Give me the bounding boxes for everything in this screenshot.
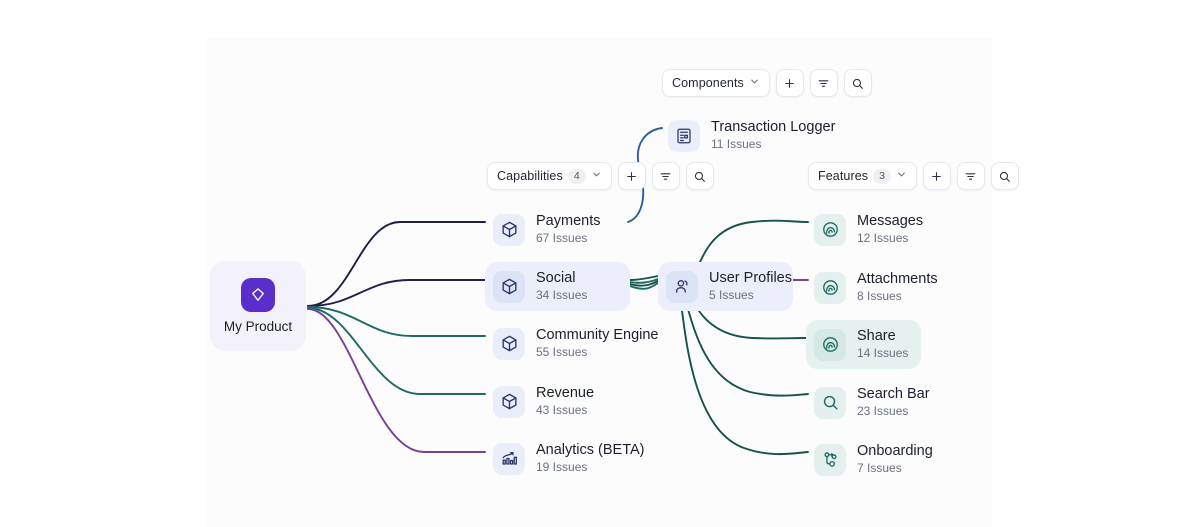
add-component-button[interactable] xyxy=(776,69,804,97)
node-issue-count: 55 Issues xyxy=(536,345,659,360)
node-issue-count: 34 Issues xyxy=(536,288,587,303)
node-title: Transaction Logger xyxy=(711,119,835,136)
node-issue-count: 19 Issues xyxy=(536,460,645,475)
chevron-down-icon xyxy=(896,167,907,185)
node-title: Payments xyxy=(536,213,600,230)
toolbar-features-selector[interactable]: Features 3 xyxy=(808,162,917,190)
cube-icon xyxy=(493,214,525,246)
node-title: Social xyxy=(536,270,587,287)
toolbar-features-count: 3 xyxy=(873,169,891,184)
spiral-icon xyxy=(814,329,846,361)
chevron-down-icon xyxy=(591,167,602,185)
cube-icon xyxy=(493,271,525,303)
node-title: Community Engine xyxy=(536,327,659,344)
node-share[interactable]: Share 14 Issues xyxy=(806,320,921,369)
gem-icon xyxy=(241,278,275,312)
node-issue-count: 14 Issues xyxy=(857,346,907,361)
node-title: Search Bar xyxy=(857,386,930,403)
node-search-bar[interactable]: Search Bar 23 Issues xyxy=(806,378,944,427)
node-attachments[interactable]: Attachments 8 Issues xyxy=(806,263,952,312)
node-user-profiles[interactable]: User Profiles 5 Issues xyxy=(658,262,793,311)
filter-components-button[interactable] xyxy=(810,69,838,97)
filter-features-button[interactable] xyxy=(957,162,985,190)
node-issue-count: 11 Issues xyxy=(711,137,835,152)
root-node-label: My Product xyxy=(224,319,292,334)
node-issue-count: 7 Issues xyxy=(857,461,933,476)
workflow-icon xyxy=(814,444,846,476)
toolbar-capabilities-label: Capabilities xyxy=(497,169,563,183)
node-title: Attachments xyxy=(857,271,938,288)
filter-capabilities-button[interactable] xyxy=(652,162,680,190)
node-issue-count: 8 Issues xyxy=(857,289,938,304)
node-issue-count: 67 Issues xyxy=(536,231,600,246)
spiral-icon xyxy=(814,272,846,304)
node-messages[interactable]: Messages 12 Issues xyxy=(806,205,937,254)
node-title: Share xyxy=(857,328,907,345)
mindmap-canvas[interactable]: My Product Components Capabilities 4 xyxy=(0,0,1200,527)
node-issue-count: 5 Issues xyxy=(709,288,779,303)
cube-icon xyxy=(493,328,525,360)
root-node-my-product[interactable]: My Product xyxy=(210,261,306,351)
toolbar-features-label: Features xyxy=(818,169,868,183)
toolbar-capabilities[interactable]: Capabilities 4 xyxy=(487,162,714,190)
toolbar-components[interactable]: Components xyxy=(662,69,872,97)
node-title: Onboarding xyxy=(857,443,933,460)
node-issue-count: 23 Issues xyxy=(857,404,930,419)
node-title: Revenue xyxy=(536,385,594,402)
node-issue-count: 12 Issues xyxy=(857,231,923,246)
node-title: Messages xyxy=(857,213,923,230)
toolbar-features[interactable]: Features 3 xyxy=(808,162,1019,190)
chevron-down-icon xyxy=(749,74,760,92)
cube-icon xyxy=(493,386,525,418)
node-social[interactable]: Social 34 Issues xyxy=(485,262,630,311)
toolbar-components-selector[interactable]: Components xyxy=(662,69,770,97)
add-capability-button[interactable] xyxy=(618,162,646,190)
search-capabilities-button[interactable] xyxy=(686,162,714,190)
node-payments[interactable]: Payments 67 Issues xyxy=(485,205,614,254)
users-icon xyxy=(666,271,698,303)
node-transaction-logger[interactable]: Transaction Logger 11 Issues xyxy=(660,111,849,160)
node-title: User Profiles xyxy=(709,270,779,287)
report-document-icon xyxy=(668,120,700,152)
search-components-button[interactable] xyxy=(844,69,872,97)
analytics-chart-icon xyxy=(493,443,525,475)
toolbar-components-label: Components xyxy=(672,76,744,90)
node-title: Analytics (BETA) xyxy=(536,442,645,459)
toolbar-capabilities-selector[interactable]: Capabilities 4 xyxy=(487,162,612,190)
node-issue-count: 43 Issues xyxy=(536,403,594,418)
node-revenue[interactable]: Revenue 43 Issues xyxy=(485,377,608,426)
node-analytics-beta[interactable]: Analytics (BETA) 19 Issues xyxy=(485,434,659,483)
add-feature-button[interactable] xyxy=(923,162,951,190)
search-icon xyxy=(814,387,846,419)
spiral-icon xyxy=(814,214,846,246)
node-onboarding[interactable]: Onboarding 7 Issues xyxy=(806,435,947,484)
toolbar-capabilities-count: 4 xyxy=(568,169,586,184)
search-features-button[interactable] xyxy=(991,162,1019,190)
node-community-engine[interactable]: Community Engine 55 Issues xyxy=(485,319,673,368)
